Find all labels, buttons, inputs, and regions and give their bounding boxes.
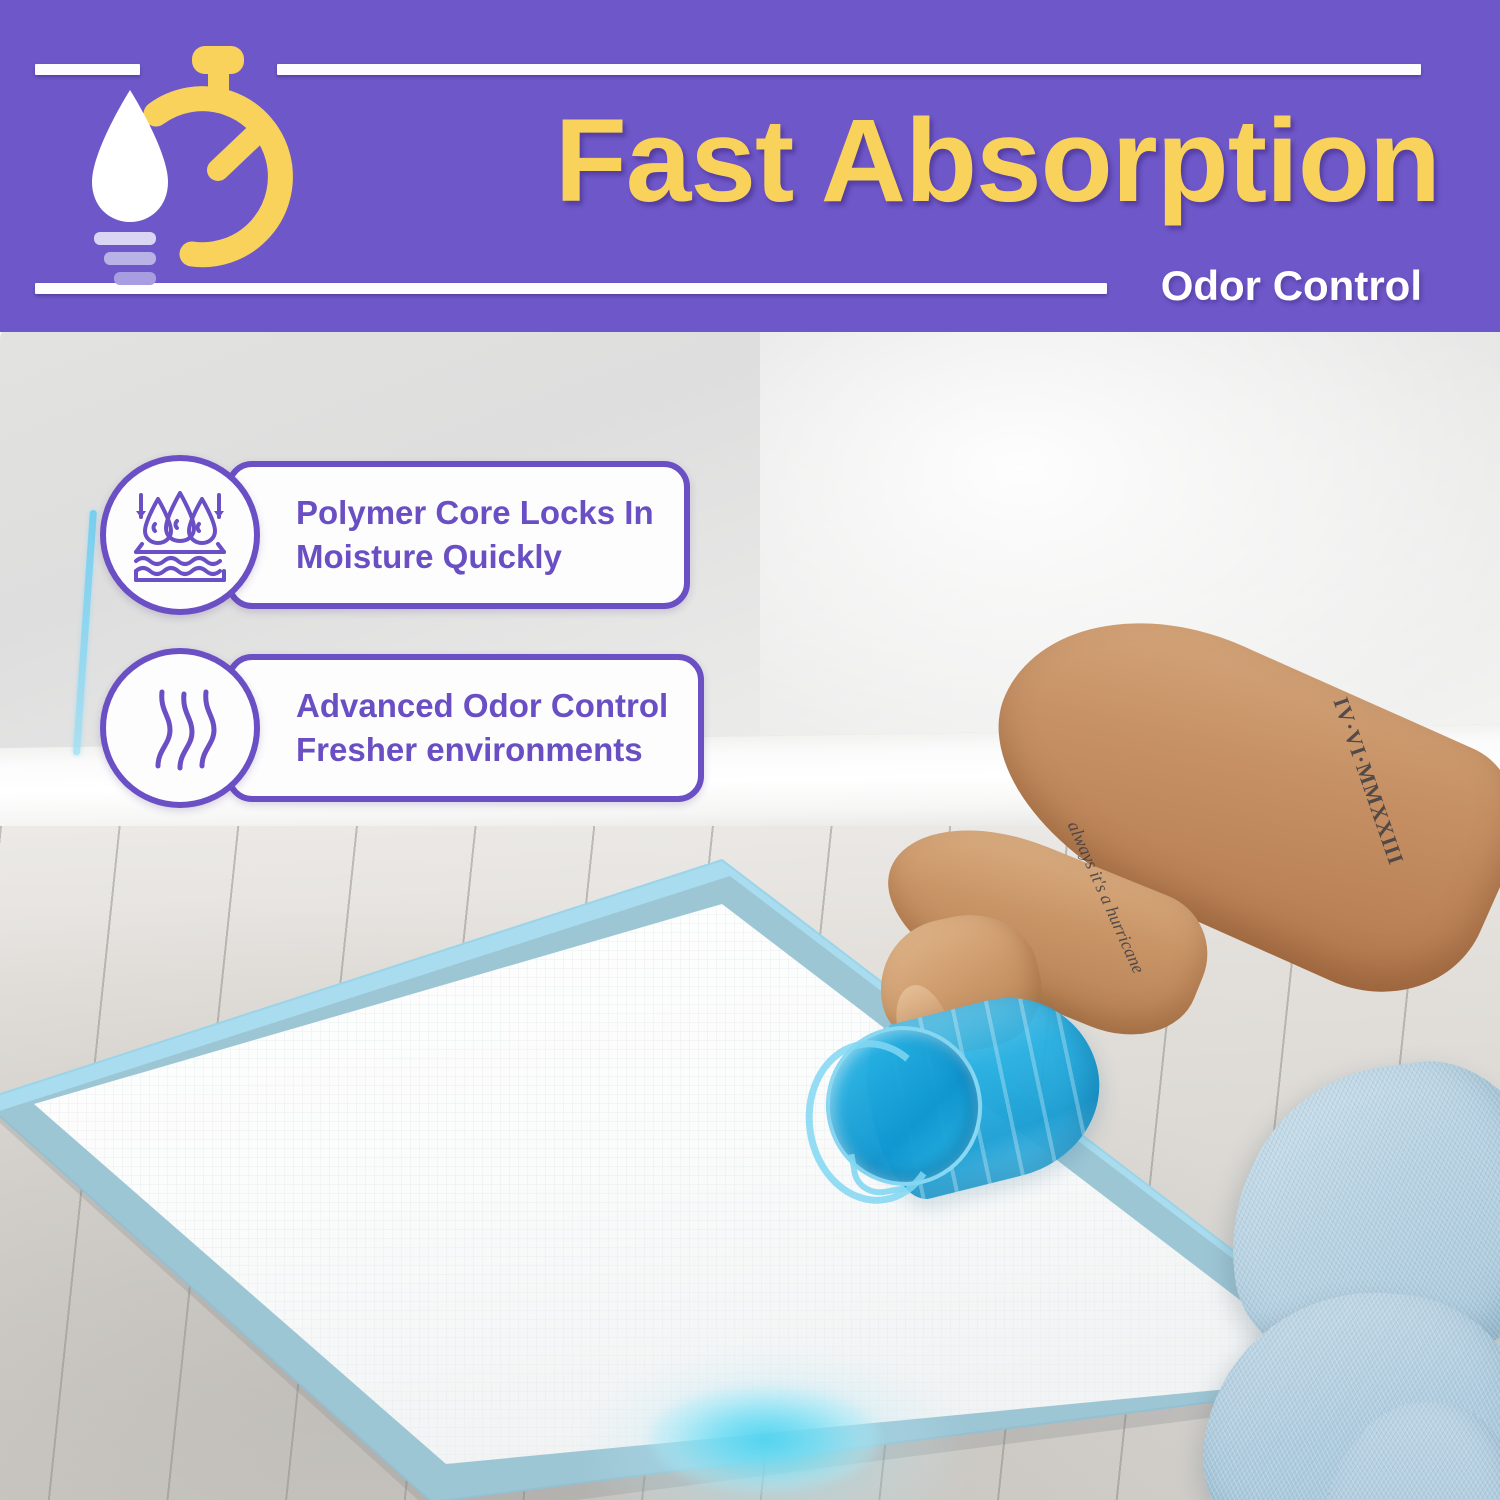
absorbed-liquid-stain: [650, 1387, 880, 1492]
header-rule-top-right: [277, 64, 1421, 75]
feature-line-1: Polymer Core Locks In: [296, 491, 654, 535]
feature-line-1: Advanced Odor Control: [296, 684, 668, 728]
feature-line-2: Moisture Quickly: [296, 535, 654, 579]
header-banner: Fast Absorption Odor Control: [0, 0, 1500, 332]
droplets-absorb-icon: [100, 455, 260, 615]
droplet-stopwatch-icon: [72, 42, 322, 292]
feature-line-2: Fresher environments: [296, 728, 668, 772]
page-title: Fast Absorption: [380, 96, 1440, 226]
blue-liquid-pitcher: [800, 1004, 1110, 1204]
feature-text-pill: Polymer Core Locks In Moisture Quickly: [226, 461, 690, 609]
header-subtitle: Odor Control: [1161, 258, 1422, 314]
product-feature-image: Fast Absorption Odor Control: [0, 0, 1500, 1500]
odor-waves-icon: [100, 648, 260, 808]
feature-text-pill: Advanced Odor Control Fresher environmen…: [226, 654, 704, 802]
feature-badge-odor-control[interactable]: Advanced Odor Control Fresher environmen…: [100, 648, 704, 808]
feature-badge-polymer-core[interactable]: Polymer Core Locks In Moisture Quickly: [100, 455, 690, 615]
